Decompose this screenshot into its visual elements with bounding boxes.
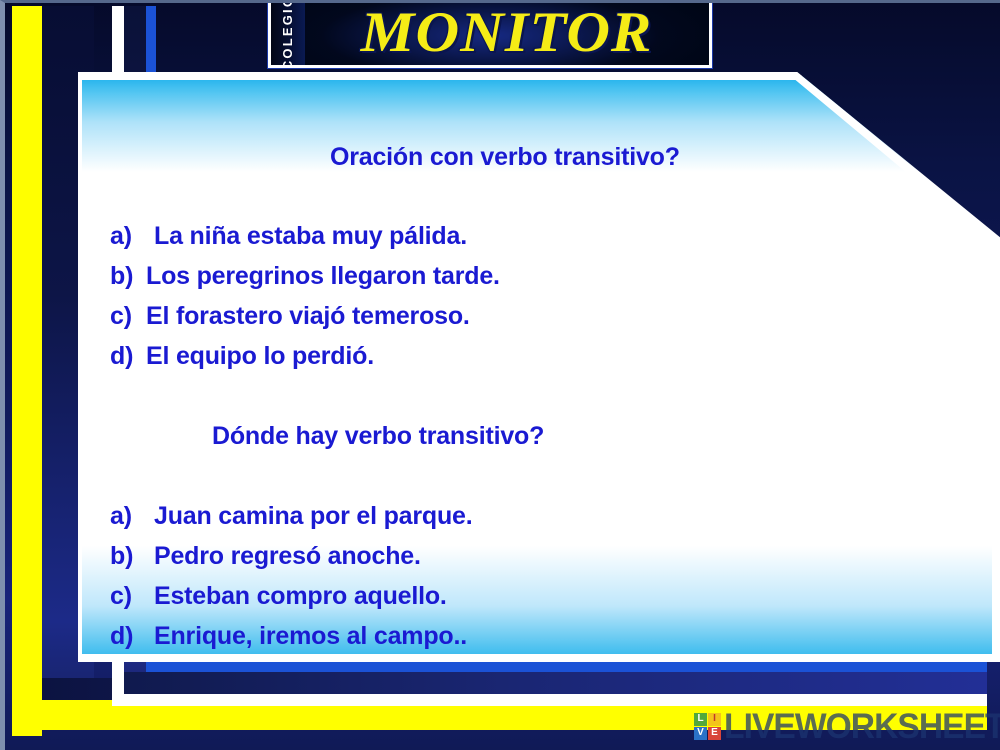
option-text: El forastero viajó temeroso. bbox=[146, 302, 470, 331]
option-row[interactable]: d) El equipo lo perdió. bbox=[78, 342, 1000, 382]
option-row[interactable]: d) Enrique, iremos al campo.. bbox=[78, 622, 1000, 662]
question-2-prompt: Dónde hay verbo transitivo? bbox=[212, 422, 544, 451]
option-text: El equipo lo perdió. bbox=[146, 342, 374, 371]
option-text: La niña estaba muy pálida. bbox=[146, 222, 467, 251]
brand-banner: COLEGIO MONITOR bbox=[268, 0, 712, 68]
option-row[interactable]: c) El forastero viajó temeroso. bbox=[78, 302, 1000, 342]
brand-monitor-wordmark: MONITOR bbox=[305, 0, 709, 65]
option-row[interactable]: b) Los peregrinos llegaron tarde. bbox=[78, 262, 1000, 302]
option-text: Enrique, iremos al campo.. bbox=[146, 622, 467, 651]
brand-monitor-label: MONITOR bbox=[361, 4, 653, 61]
question-1-option-list: a) La niña estaba muy pálida. b) Los per… bbox=[78, 222, 1000, 382]
option-text: Los peregrinos llegaron tarde. bbox=[146, 262, 500, 291]
frame-bar-yellow-left bbox=[12, 6, 42, 736]
option-label: c) bbox=[110, 582, 146, 611]
option-row[interactable]: a) Juan camina por el parque. bbox=[78, 502, 1000, 542]
brand-colegio-label: COLEGIO bbox=[281, 0, 296, 68]
question-1-prompt: Oración con verbo transitivo? bbox=[330, 143, 680, 172]
slide-root: COLEGIO MONITOR Oración con verbo transi… bbox=[0, 0, 1000, 750]
option-row[interactable]: a) La niña estaba muy pálida. bbox=[78, 222, 1000, 262]
option-label: b) bbox=[110, 262, 146, 291]
card-text-layer: Oración con verbo transitivo? a) La niña… bbox=[78, 72, 1000, 662]
option-label: b) bbox=[110, 542, 146, 571]
option-text: Esteban compro aquello. bbox=[146, 582, 447, 611]
option-label: a) bbox=[110, 502, 146, 531]
frame-bar-blue-bottom bbox=[146, 662, 987, 672]
option-text: Juan camina por el parque. bbox=[146, 502, 473, 531]
option-text: Pedro regresó anoche. bbox=[146, 542, 421, 571]
frame-bar-navy-inner-bottom bbox=[124, 672, 987, 694]
option-row[interactable]: b) Pedro regresó anoche. bbox=[78, 542, 1000, 582]
option-label: d) bbox=[110, 622, 146, 651]
option-label: a) bbox=[110, 222, 146, 251]
option-row[interactable]: c) Esteban compro aquello. bbox=[78, 582, 1000, 622]
bottom-white-strip bbox=[600, 694, 987, 705]
option-label: c) bbox=[110, 302, 146, 331]
option-label: d) bbox=[110, 342, 146, 371]
question-2-option-list: a) Juan camina por el parque. b) Pedro r… bbox=[78, 502, 1000, 662]
brand-colegio-strip: COLEGIO bbox=[271, 0, 305, 65]
